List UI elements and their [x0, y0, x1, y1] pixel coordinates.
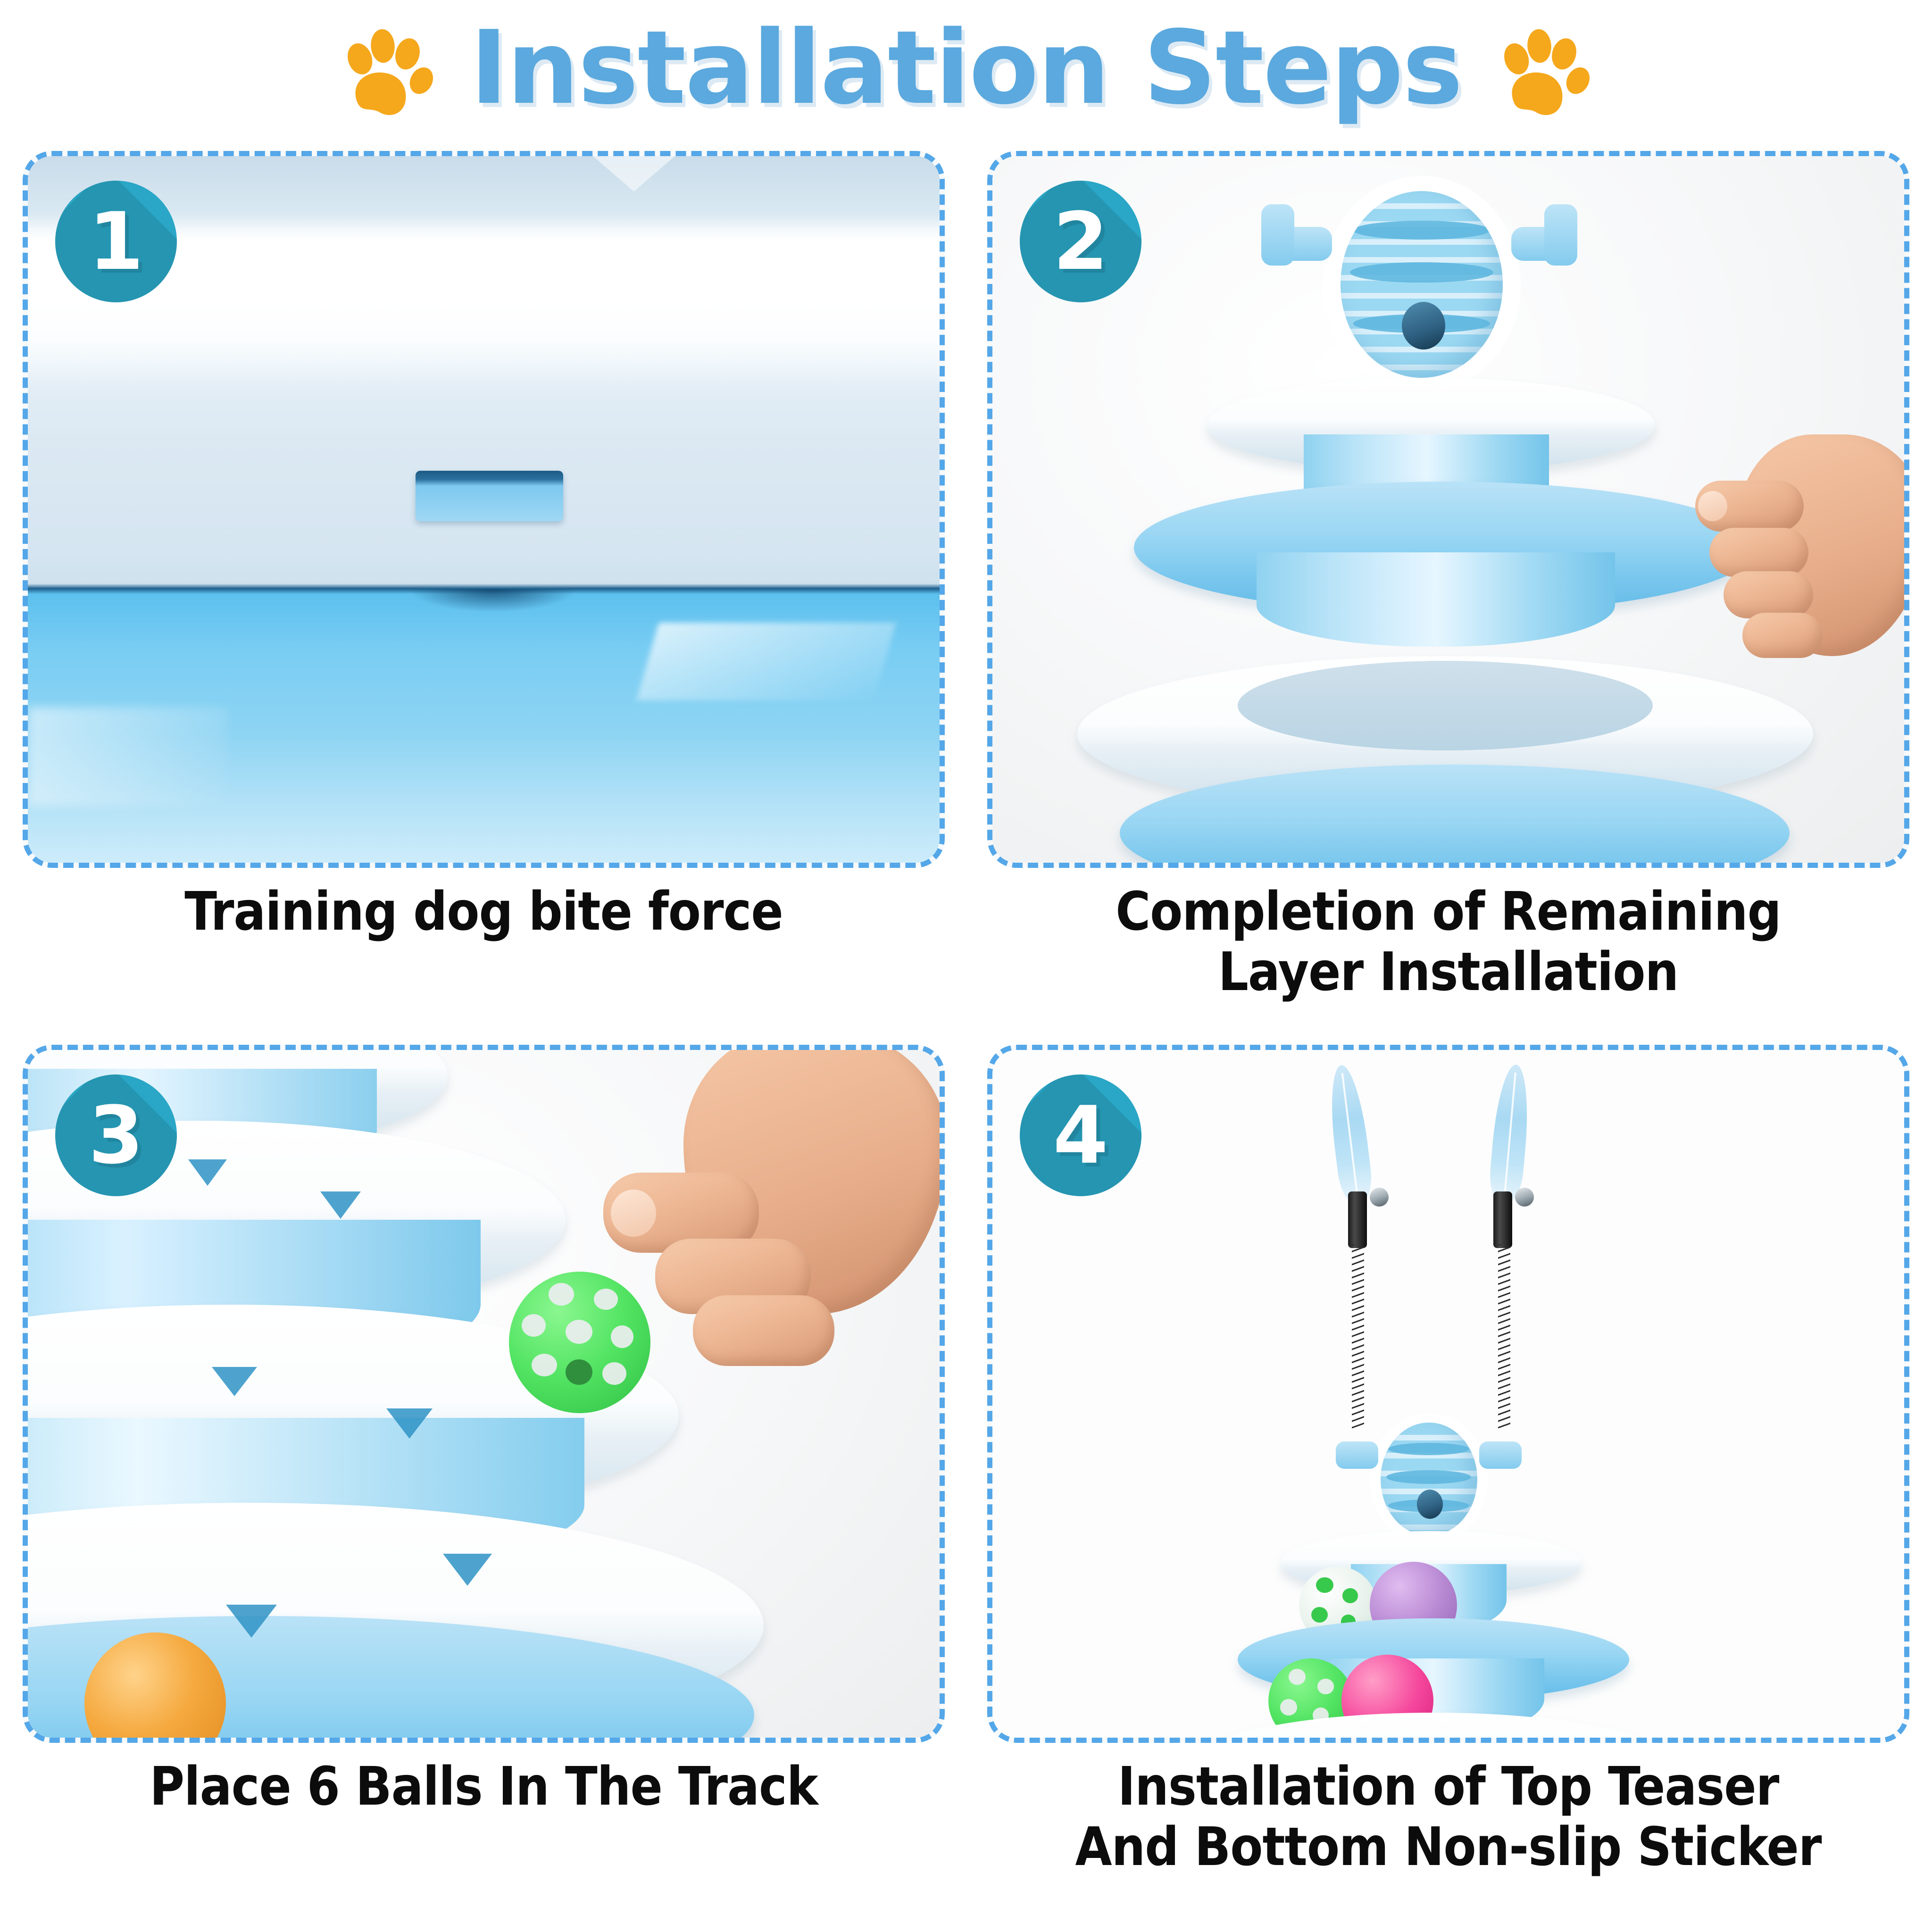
step-card-4: 4 Installation of Top Teaser And Bottom …: [987, 1045, 1909, 1927]
teaser-ball-head: [1370, 1413, 1488, 1545]
step-4-caption: Installation of Top Teaser And Bottom No…: [987, 1757, 1909, 1877]
step-card-3: 3 Place 6 Balls In The Track: [23, 1045, 945, 1927]
caption-line: Installation of Top Teaser: [987, 1757, 1909, 1817]
step-card-1: 1 Training dog bite force: [23, 151, 945, 1033]
step-2-photo: 2: [987, 151, 1909, 868]
tray-slot: [416, 471, 563, 522]
teaser-bell-icon: [1402, 302, 1445, 350]
step-4-photo: 4: [987, 1045, 1909, 1743]
step-badge-1: 1: [55, 181, 177, 302]
paw-print-icon: [338, 21, 437, 120]
teaser-ball-head: [1323, 176, 1521, 393]
bell-window: [566, 1359, 592, 1385]
step-number: 2: [1020, 181, 1141, 302]
paw-print-icon: [1495, 21, 1594, 120]
hand-placing-ball: [584, 1045, 945, 1456]
page-header: Installation Steps: [0, 0, 1932, 142]
bottom-disc-inner-well: [1238, 661, 1653, 750]
step-1-photo: 1: [23, 151, 945, 868]
step-badge-3: 3: [55, 1074, 177, 1196]
step-number: 4: [1020, 1074, 1141, 1196]
step-number: 3: [55, 1074, 177, 1196]
installation-steps-grid: 1 Training dog bite force: [0, 142, 1932, 1932]
step-number: 1: [55, 181, 177, 302]
hand-holding-disc: [1676, 401, 1909, 694]
caption-line: Completion of Remaining: [987, 882, 1909, 942]
step-card-2: 2 Completion of Remaining Layer Installa…: [987, 151, 1909, 1033]
page-title: Installation Steps: [470, 17, 1462, 125]
step-badge-4: 4: [1020, 1074, 1141, 1196]
step-3-caption: Place 6 Balls In The Track: [23, 1757, 945, 1817]
caption-line: Place 6 Balls In The Track: [23, 1757, 945, 1817]
step-2-caption: Completion of Remaining Layer Installati…: [987, 882, 1909, 1002]
step-badge-2: 2: [1020, 181, 1141, 302]
caption-line: Training dog bite force: [23, 882, 945, 942]
caption-line: Layer Installation: [987, 942, 1909, 1003]
middle-column: [1257, 552, 1615, 647]
step-3-photo: 3: [23, 1045, 945, 1743]
green-holed-ball: [509, 1272, 650, 1413]
teaser-bell-icon: [1417, 1490, 1443, 1519]
caption-line: And Bottom Non-slip Sticker: [987, 1817, 1909, 1878]
step-1-caption: Training dog bite force: [23, 882, 945, 942]
